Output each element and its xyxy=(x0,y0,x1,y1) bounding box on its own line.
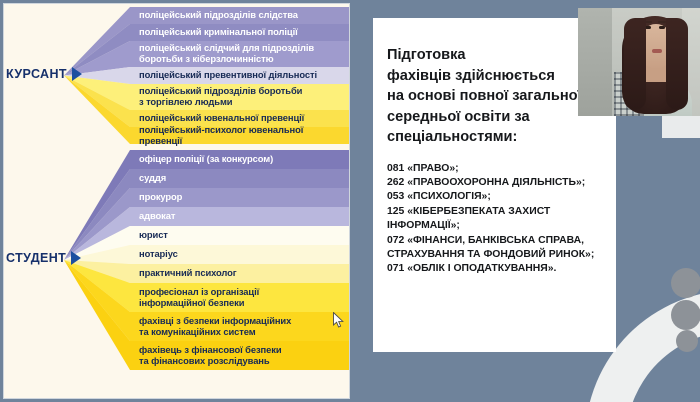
group-label-cadet-text: КУРСАНТ xyxy=(6,67,67,81)
webcam-lips xyxy=(652,49,662,53)
specialties-list: 081 «ПРАВО»; 262 «ПРАВООХОРОННА ДІЯЛЬНІС… xyxy=(387,162,606,277)
diagram-row-label: поліцейський превентивної діяльності xyxy=(139,70,347,81)
diagram-row: поліцейський кримінальної поліції xyxy=(130,24,350,41)
diagram-row-label: поліцейський підрозділів боротьби з торг… xyxy=(139,86,347,107)
decor-dot-2 xyxy=(671,300,700,330)
diagram-row-label: поліцейський підрозділів слідства xyxy=(139,10,347,21)
diagram-row: нотаріус xyxy=(130,245,350,264)
diagram-row-label: офіцер поліції (за конкурсом) xyxy=(139,154,347,165)
panel-heading: Підготовка фахівців здійснюється на осно… xyxy=(387,45,606,148)
diagram-row: поліцейський превентивної діяльності xyxy=(130,67,350,84)
webcam-hair-front-left xyxy=(624,18,646,110)
group-label-cadet: КУРСАНТ xyxy=(6,67,82,81)
webcam-eye-right xyxy=(659,26,665,29)
diagram-row-label: поліцейський ювенальної превенції xyxy=(139,113,347,124)
diagram-row: поліцейський підрозділів боротьби з торг… xyxy=(130,84,350,110)
diagram-row-label: нотаріус xyxy=(139,249,347,260)
arrow-right-icon xyxy=(71,251,81,265)
diagram-row: поліцейський підрозділів слідства xyxy=(130,7,350,24)
diagram-row: поліцейський-психолог ювенальної превенц… xyxy=(130,127,350,144)
diagram-row-label: адвокат xyxy=(139,211,347,222)
webcam-video-tile[interactable] xyxy=(578,8,700,116)
decor-dot-3 xyxy=(676,330,698,352)
diagram-row-label: професіонал із організації інформаційної… xyxy=(139,287,347,308)
group-label-student: СТУДЕНТ xyxy=(6,251,81,265)
diagram-row: практичний психолог xyxy=(130,264,350,283)
mouse-cursor xyxy=(333,312,345,329)
diagram-row-label: поліцейський слідчий для підрозділів бор… xyxy=(139,43,347,64)
diagram-row: професіонал із організації інформаційної… xyxy=(130,283,350,312)
diagram-row-label: прокурор xyxy=(139,192,347,203)
decor-dot-1 xyxy=(671,268,700,298)
diagram-row: суддя xyxy=(130,169,350,188)
webcam-eyebrow-right xyxy=(658,21,666,23)
diagram-row-label: юрист xyxy=(139,230,347,241)
diagram-row-label: фахівець з фінансової безпеки та фінансо… xyxy=(139,345,347,366)
diagram-row: адвокат xyxy=(130,207,350,226)
group-label-student-text: СТУДЕНТ xyxy=(6,251,66,265)
diagram-row: поліцейський слідчий для підрозділів бор… xyxy=(130,41,350,67)
diagram-row-label: фахівці з безпеки інформаційних та комун… xyxy=(139,316,347,337)
diagram-row: фахівець з фінансової безпеки та фінансо… xyxy=(130,341,350,370)
webcam-hair-front-right xyxy=(666,18,688,110)
diagram-row-label: поліцейський кримінальної поліції xyxy=(139,27,347,38)
diagram-row-label: практичний психолог xyxy=(139,268,347,279)
diagram-row: офіцер поліції (за конкурсом) xyxy=(130,150,350,169)
slide-diagram: поліцейський підрозділів слідстваполіцей… xyxy=(3,3,350,399)
diagram-row-label: поліцейський-психолог ювенальної превенц… xyxy=(139,125,347,146)
diagram-row: прокурор xyxy=(130,188,350,207)
arrow-right-icon xyxy=(72,67,82,81)
webcam-wall-left xyxy=(578,8,612,116)
presentation-screen: поліцейський підрозділів слідстваполіцей… xyxy=(0,0,700,402)
diagram-row: юрист xyxy=(130,226,350,245)
band-column: поліцейський підрозділів слідстваполіцей… xyxy=(130,4,350,398)
diagram-row: фахівці з безпеки інформаційних та комун… xyxy=(130,312,350,341)
diagram-row-label: суддя xyxy=(139,173,347,184)
